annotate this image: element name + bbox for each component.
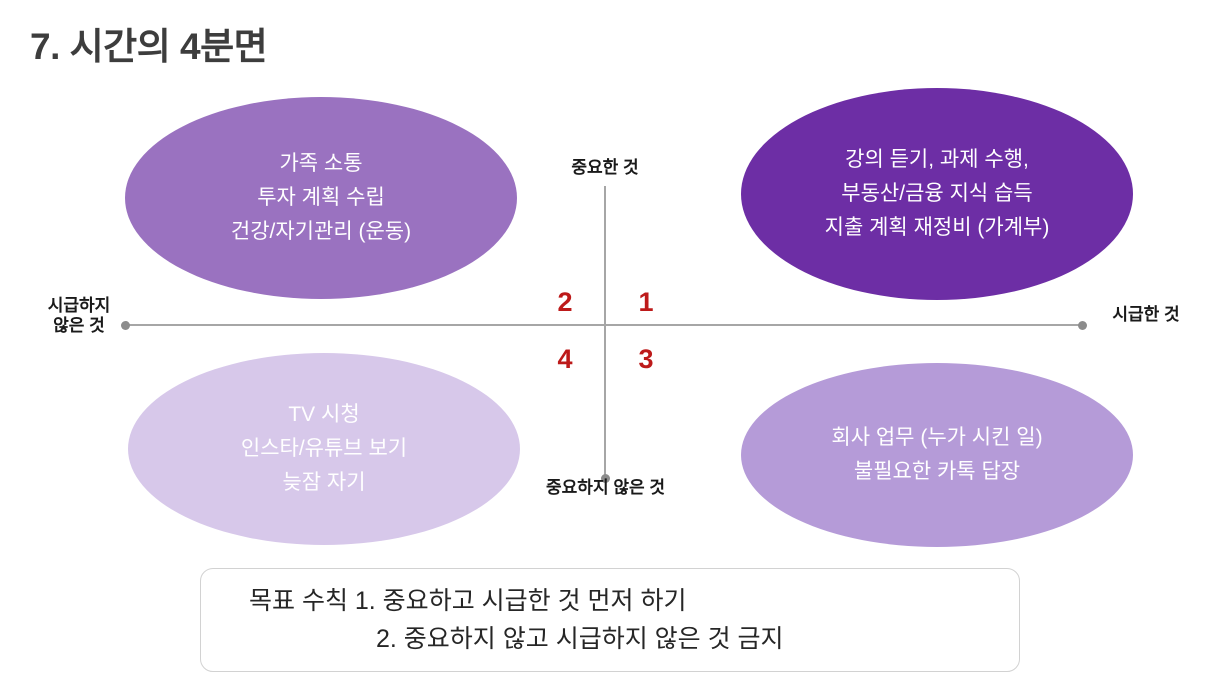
quadrant-2-line-3: 건강/자기관리 (운동)	[231, 215, 411, 249]
quadrant-number-3: 3	[631, 344, 661, 375]
quadrant-3-line-1: 회사 업무 (누가 시킨 일)	[831, 421, 1042, 455]
quadrant-4-ellipse: TV 시청 인스타/유튜브 보기 늦잠 자기	[128, 353, 520, 545]
quadrant-1-line-3: 지출 계획 재정비 (가계부)	[825, 211, 1050, 245]
axis-label-not-important: 중요하지 않은 것	[518, 478, 693, 498]
goal-rules-box: 목표 수칙 1. 중요하고 시급한 것 먼저 하기 2. 중요하지 않고 시급하…	[200, 568, 1020, 672]
axis-label-not-urgent: 시급하지 않은 것	[38, 296, 120, 336]
page-title: 7. 시간의 4분면	[30, 16, 267, 70]
quadrant-3-line-2: 불필요한 카톡 답장	[854, 455, 1020, 489]
quadrant-number-4: 4	[550, 344, 580, 375]
quadrant-number-1: 1	[631, 287, 661, 318]
quadrant-2-line-1: 가족 소통	[279, 147, 362, 181]
axis-endpoint-dot-right-icon	[1078, 321, 1087, 330]
goal-rule-line-2: 2. 중요하지 않고 시급하지 않은 것 금지	[201, 620, 1019, 658]
axis-label-important: 중요한 것	[545, 158, 665, 178]
axis-label-urgent: 시급한 것	[1098, 305, 1194, 325]
quadrant-number-2: 2	[550, 287, 580, 318]
quadrant-4-line-1: TV 시청	[288, 398, 359, 432]
quadrant-4-line-3: 늦잠 자기	[282, 466, 365, 500]
quadrant-2-ellipse: 가족 소통 투자 계획 수립 건강/자기관리 (운동)	[125, 97, 517, 299]
goal-rule-line-1: 목표 수칙 1. 중요하고 시급한 것 먼저 하기	[201, 582, 1019, 620]
quadrant-3-ellipse: 회사 업무 (누가 시킨 일) 불필요한 카톡 답장	[741, 363, 1133, 547]
quadrant-2-line-2: 투자 계획 수립	[257, 181, 385, 215]
axis-endpoint-dot-left-icon	[121, 321, 130, 330]
quadrant-1-ellipse: 강의 듣기, 과제 수행, 부동산/금융 지식 습득 지출 계획 재정비 (가계…	[741, 88, 1133, 300]
vertical-axis-line	[604, 186, 606, 478]
quadrant-1-line-1: 강의 듣기, 과제 수행,	[845, 143, 1029, 177]
quadrant-4-line-2: 인스타/유튜브 보기	[241, 432, 407, 466]
quadrant-1-line-2: 부동산/금융 지식 습득	[841, 177, 1032, 211]
